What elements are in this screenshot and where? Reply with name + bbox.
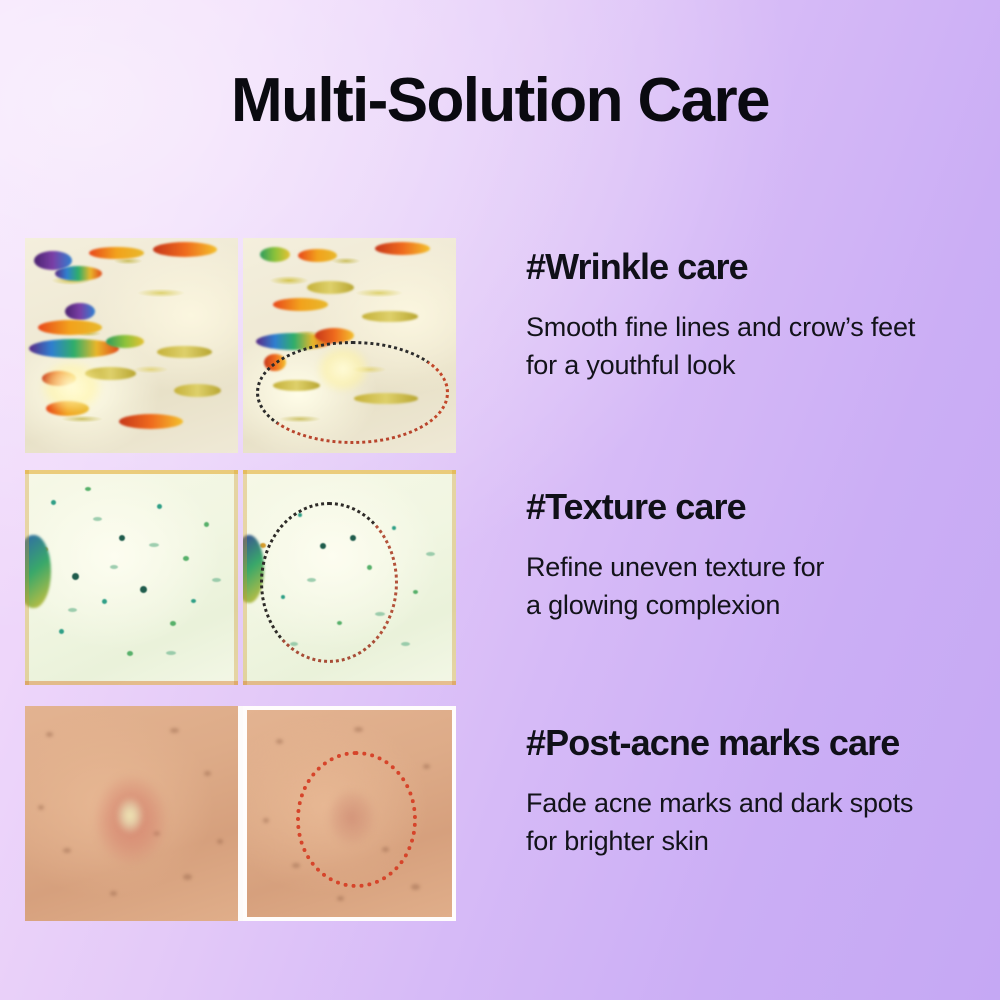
copy-block-texture: #Texture care Refine uneven texture for …: [526, 486, 996, 624]
texture-pore-field: [25, 470, 238, 685]
poster-canvas: Multi-Solution Care: [0, 0, 1000, 1000]
post-acne-after-image: [243, 706, 456, 921]
section-post-acne: #Post-acne marks care Fade acne marks an…: [0, 706, 1000, 921]
texture-after-image: [243, 470, 456, 685]
before-after-pair-texture: [25, 470, 456, 685]
section-body-texture: Refine uneven texture for a glowing comp…: [526, 548, 996, 624]
copy-block-post-acne: #Post-acne marks care Fade acne marks an…: [526, 722, 996, 860]
before-after-pair-wrinkle: [25, 238, 456, 453]
section-body-post-acne: Fade acne marks and dark spots for brigh…: [526, 784, 996, 860]
section-wrinkle: #Wrinkle care Smooth fine lines and crow…: [0, 238, 1000, 453]
faded-acne-mark: [321, 782, 383, 852]
before-after-pair-post-acne: [25, 706, 456, 921]
wrinkle-streaks: [25, 238, 238, 453]
section-heading-post-acne: #Post-acne marks care: [526, 722, 996, 764]
section-body-wrinkle: Smooth fine lines and crow’s feet for a …: [526, 308, 996, 384]
wrinkle-after-image: [243, 238, 456, 453]
texture-before-image: [25, 470, 238, 685]
texture-pore-field-after: [243, 470, 456, 685]
section-texture: #Texture care Refine uneven texture for …: [0, 470, 1000, 685]
page-title: Multi-Solution Care: [0, 66, 1000, 136]
wrinkle-before-image: [25, 238, 238, 453]
post-acne-before-image: [25, 706, 238, 921]
copy-block-wrinkle: #Wrinkle care Smooth fine lines and crow…: [526, 246, 996, 384]
section-heading-wrinkle: #Wrinkle care: [526, 246, 996, 288]
wrinkle-streaks-after: [243, 238, 456, 453]
section-heading-texture: #Texture care: [526, 486, 996, 528]
